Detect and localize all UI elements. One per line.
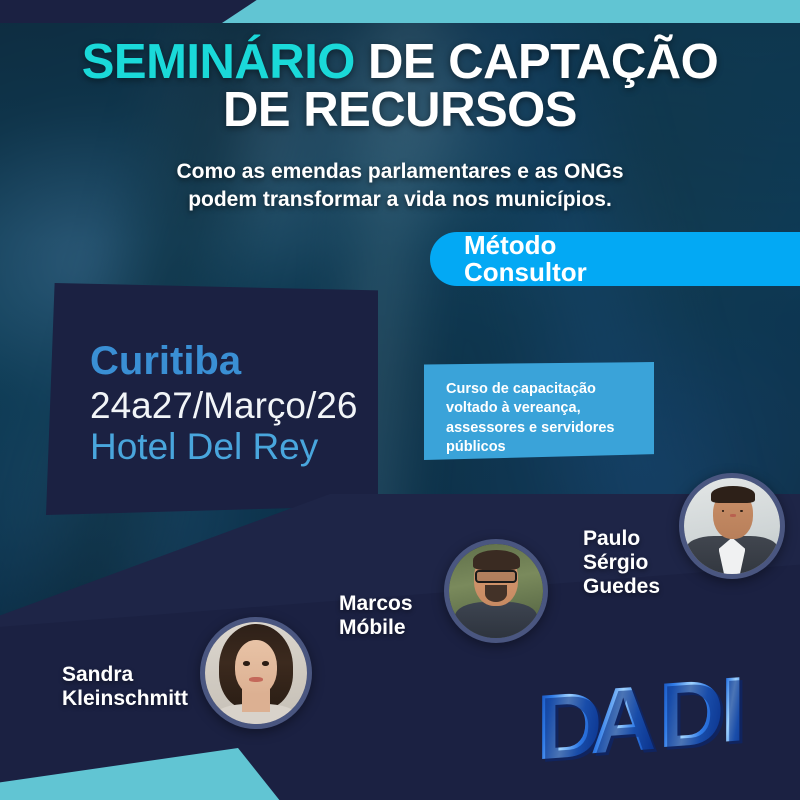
speaker-name-paulo: Paulo Sérgio Guedes	[583, 527, 660, 599]
poster-headline: SEMINÁRIO DE CAPTAÇÃO DE RECURSOS	[0, 38, 800, 134]
marcos-hair-shape	[473, 550, 520, 571]
event-details-panel: Curitiba 24a27/Março/26 Hotel Del Rey	[46, 283, 378, 515]
course-line-2: voltado à vereança,	[446, 400, 581, 416]
event-venue: Hotel Del Rey	[90, 426, 378, 467]
speaker-avatar-paulo	[679, 473, 785, 579]
dadi-logo-letter-2: A	[590, 672, 656, 769]
dadi-logo: D A D I	[534, 668, 784, 778]
sandra-name-line-2: Kleinschmitt	[62, 687, 188, 711]
dadi-logo-letter-3: D	[658, 666, 724, 763]
paulo-name-line-1: Paulo	[583, 527, 660, 551]
paulo-name-line-3: Guedes	[583, 575, 660, 599]
top-bar-teal-accent	[222, 0, 800, 23]
metodo-consultor-badge: Método Consultor	[430, 232, 800, 286]
speaker-avatar-marcos	[444, 539, 548, 643]
sandra-name-line-1: Sandra	[62, 663, 188, 687]
poster-subtitle: Como as emendas parlamentares e as ONGs …	[0, 158, 800, 213]
marcos-name-line-1: Marcos	[339, 592, 413, 616]
paulo-hair-shape	[711, 486, 755, 503]
dadi-logo-letter-4: I	[720, 663, 746, 757]
speaker-avatar-sandra	[200, 617, 312, 729]
badge-line-1: Método	[464, 232, 587, 259]
headline-line-2: DE RECURSOS	[0, 86, 800, 134]
headline-accent-word: SEMINÁRIO	[82, 35, 355, 89]
marcos-name-line-2: Móbile	[339, 616, 413, 640]
paulo-name-line-2: Sérgio	[583, 551, 660, 575]
speaker-name-marcos: Marcos Móbile	[339, 592, 413, 640]
avatar-photo-paulo	[684, 478, 780, 574]
course-line-1: Curso de capacitação	[446, 381, 596, 397]
sandra-face-shape	[235, 640, 278, 695]
avatar-photo-sandra	[205, 622, 307, 724]
seminar-promo-poster: SEMINÁRIO DE CAPTAÇÃO DE RECURSOS Como a…	[0, 0, 800, 800]
course-description-box: Curso de capacitação voltado à vereança,…	[424, 362, 654, 460]
paulo-eye-left	[722, 510, 725, 512]
sandra-eye-right	[262, 661, 269, 665]
sandra-mouth	[249, 677, 264, 682]
event-dates: 24a27/Março/26	[90, 385, 378, 426]
course-line-4: públicos	[446, 439, 506, 455]
subtitle-line-2: podem transformar a vida nos municípios.	[0, 186, 800, 214]
avatar-photo-marcos	[449, 544, 543, 638]
course-line-3: assessores e servidores	[446, 420, 615, 436]
course-description-text: Curso de capacitação voltado à vereança,…	[446, 380, 640, 458]
subtitle-line-1: Como as emendas parlamentares e as ONGs	[0, 158, 800, 186]
speaker-name-sandra: Sandra Kleinschmitt	[62, 663, 188, 711]
sandra-eye-left	[243, 661, 250, 665]
event-city: Curitiba	[90, 341, 378, 381]
metodo-consultor-badge-text: Método Consultor	[430, 232, 587, 285]
headline-line-1-rest: DE CAPTAÇÃO	[355, 35, 718, 89]
top-bar-navy-accent	[0, 0, 260, 23]
headline-line-1: SEMINÁRIO DE CAPTAÇÃO	[0, 38, 800, 86]
marcos-glasses-icon	[475, 570, 516, 582]
paulo-mouth	[730, 514, 736, 516]
marcos-shirt-shape	[455, 602, 538, 641]
paulo-eye-right	[740, 510, 743, 512]
badge-line-2: Consultor	[464, 259, 587, 286]
